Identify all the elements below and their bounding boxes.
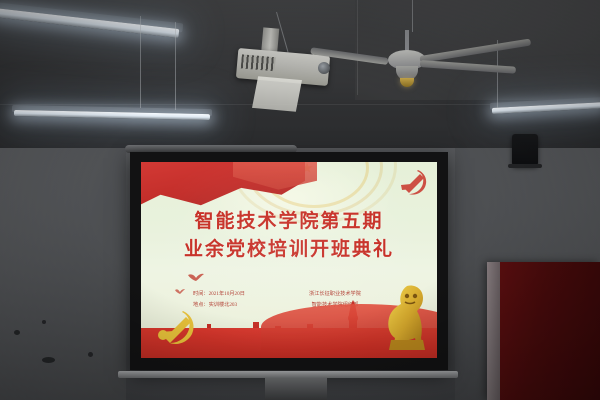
flag-pole-strip <box>487 262 500 400</box>
wall-mark-4 <box>88 352 93 357</box>
wall-mark-3 <box>42 320 46 324</box>
speaker-shelf <box>508 164 542 168</box>
guardian-lion-icon <box>377 280 431 354</box>
slide-title: 智能技术学院第五期 业余党校培训开班典礼 <box>141 208 437 264</box>
slide-title-line2: 业余党校培训开班典礼 <box>141 236 437 264</box>
ceiling-edge-line <box>357 0 358 95</box>
fan-rod <box>405 30 409 52</box>
cpc-party-flag <box>487 262 600 400</box>
hammer-sickle-icon-slide <box>399 168 429 196</box>
dove-icon-1 <box>187 272 205 284</box>
projector-panel <box>281 59 312 73</box>
projector-lens <box>318 62 330 74</box>
slide-title-line1: 智能技术学院第五期 <box>141 208 437 236</box>
projector-vents <box>241 54 276 71</box>
fan-suspension-wire <box>412 0 413 32</box>
projector-cable-tray <box>252 76 302 111</box>
screen-bottom-bar <box>118 371 458 378</box>
wall-mark-1 <box>14 330 20 335</box>
light-wire-2 <box>175 22 176 110</box>
projection-screen-surface: 智能技术学院第五期 业余党校培训开班典礼 时间：2021年10月20日 地点：实… <box>141 162 437 358</box>
party-emblem-icon <box>157 308 197 348</box>
presentation-slide: 智能技术学院第五期 业余党校培训开班典礼 时间：2021年10月20日 地点：实… <box>141 162 437 358</box>
wall-speaker <box>512 134 538 166</box>
wall-mark-2 <box>42 357 55 363</box>
light-wire-1 <box>140 16 141 108</box>
wall-left-section <box>0 148 126 400</box>
classroom-photo: 智能技术学院第五期 业余党校培训开班典礼 时间：2021年10月20日 地点：实… <box>0 0 600 400</box>
screen-wall-bracket <box>265 378 327 400</box>
